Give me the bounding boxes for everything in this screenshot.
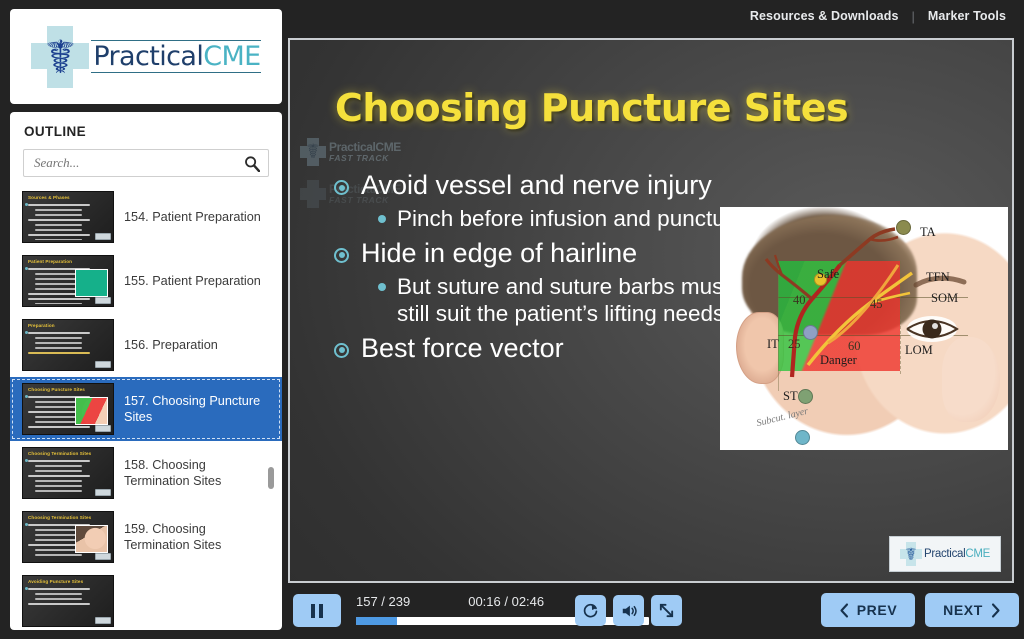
sub-bullet-marker-icon — [378, 283, 386, 291]
outline-item-label: 157. Choosing Puncture Sites — [124, 393, 274, 426]
resources-and-downloads-link[interactable]: Resources & Downloads — [750, 9, 899, 23]
thumbnail-image — [75, 397, 108, 425]
outline-heading: OUTLINE — [10, 112, 282, 139]
figure-label: Danger — [820, 353, 857, 368]
replay-icon — [582, 602, 599, 619]
outline-item-label: 158. Choosing Termination Sites — [124, 457, 274, 490]
presentation-player: Resources & Downloads | Marker Tools ☤ P… — [0, 0, 1024, 639]
outline-item-157[interactable]: Choosing Puncture Sites157. Choosing Pun… — [10, 377, 282, 441]
footer-caduceus-icon: ☤ — [900, 542, 922, 566]
thumbnail-title: Choosing Puncture Sites — [28, 387, 85, 392]
thumbnail-image — [75, 269, 108, 297]
thumbnail-title: Preparation — [28, 323, 55, 328]
thumbnail-badge — [95, 233, 111, 240]
brand-wordmark: PracticalCME — [91, 38, 260, 75]
outline-panel: OUTLINE Sources & Phases154. Patient Pre… — [10, 112, 282, 630]
bullet-marker-icon — [334, 180, 349, 195]
outline-item-thumbnail: Choosing Termination Sites — [22, 447, 114, 499]
footer-logo-part1: Practical — [924, 548, 965, 560]
search-box[interactable] — [23, 149, 269, 177]
slide-bullet-list: Avoid vessel and nerve injuryPinch befor… — [334, 170, 754, 367]
chevron-right-icon — [990, 603, 1001, 618]
thumbnail-image — [75, 525, 108, 553]
outline-item-156[interactable]: Preparation156. Preparation — [10, 313, 282, 377]
player-controls-bar: 157 / 239 00:16 / 02:46 — [288, 590, 1014, 636]
slide-sub-bullet-text: Pinch before infusion and puncture — [397, 205, 745, 232]
thumbnail-badge — [95, 617, 111, 624]
thumbnail-title: Choosing Termination Sites — [28, 451, 91, 456]
progress-bar-fill — [356, 617, 397, 625]
thumbnail-title: Choosing Termination Sites — [28, 515, 91, 520]
thumbnail-badge — [95, 489, 111, 496]
thumbnail-badge — [95, 425, 111, 432]
figure-label: TA — [920, 225, 936, 240]
watermark-tagline: FAST TRACK — [329, 154, 401, 163]
slide-bullet-level2: Pinch before infusion and puncture — [378, 205, 754, 232]
thumbnail-title: Sources & Phases — [28, 195, 70, 200]
volume-button[interactable] — [613, 595, 644, 626]
slide-counter: 157 / 239 — [356, 594, 410, 609]
thumbnail-badge — [95, 361, 111, 368]
outline-item-thumbnail: Choosing Termination Sites — [22, 511, 114, 563]
footer-logo-part2: CME — [965, 548, 990, 560]
outline-item-thumbnail: Avoiding Puncture Sites — [22, 575, 114, 627]
outline-list[interactable]: Sources & Phases154. Patient Preparation… — [10, 185, 282, 630]
figure-angle-number: 60 — [848, 339, 861, 354]
slide-bullet-text: Hide in edge of hairline — [361, 238, 637, 270]
time-counter: 00:16 / 02:46 — [468, 594, 544, 609]
figure-angle-number: 40 — [793, 293, 806, 308]
outline-item-160[interactable]: Avoiding Puncture Sites — [10, 569, 282, 630]
outline-scrollbar-thumb[interactable] — [268, 467, 274, 489]
fullscreen-icon — [658, 602, 675, 619]
figure-label: SOM — [931, 291, 958, 306]
outline-item-thumbnail: Patient Preparation — [22, 255, 114, 307]
figure-label: LOM — [905, 343, 933, 358]
thumbnail-badge — [95, 297, 111, 304]
outline-item-159[interactable]: Choosing Termination Sites159. Choosing … — [10, 505, 282, 569]
figure-angle-number: 45 — [870, 297, 883, 312]
slide-sub-bullet-text: But suture and suture barbs must still s… — [397, 273, 754, 327]
brand-name-part2: CME — [203, 41, 260, 72]
slide-bullet-text: Best force vector — [361, 333, 564, 365]
slide-bullet-level1: Hide in edge of hairline — [334, 238, 754, 270]
replay-button[interactable] — [575, 595, 606, 626]
player-counters: 157 / 239 00:16 / 02:46 — [356, 594, 656, 609]
slide-bullet-level2: But suture and suture barbs must still s… — [378, 273, 754, 327]
slide-title: Choosing Puncture Sites — [335, 86, 848, 130]
watermark-name: PracticalCME — [329, 141, 401, 154]
outline-item-thumbnail: Preparation — [22, 319, 114, 371]
thumbnail-title: Avoiding Puncture Sites — [28, 579, 83, 584]
slide-watermark-logo: ☤ PracticalCME FAST TRACK — [300, 138, 425, 166]
thumbnail-badge — [95, 553, 111, 560]
outline-item-154[interactable]: Sources & Phases154. Patient Preparation — [10, 185, 282, 249]
figure-vessel-overlay — [720, 207, 1008, 450]
pause-icon — [311, 604, 323, 618]
prev-button-label: PREV — [857, 602, 898, 618]
next-button[interactable]: NEXT — [925, 593, 1019, 627]
caduceus-icon: ☤ — [31, 26, 89, 88]
thumbnail-text-lines — [28, 588, 109, 608]
outline-item-thumbnail: Sources & Phases — [22, 191, 114, 243]
outline-item-label: 159. Choosing Termination Sites — [124, 521, 274, 554]
figure-label: ST — [783, 389, 798, 404]
slide-footer-logo: ☤ PracticalCME — [889, 536, 1001, 572]
facial-danger-zone-figure: TATFNSOMLOMSTSafeDangerIT 40452560 Subcu… — [720, 207, 1008, 450]
figure-label: IT — [767, 337, 779, 352]
outline-item-158[interactable]: Choosing Termination Sites158. Choosing … — [10, 441, 282, 505]
slide-bullet-level1: Best force vector — [334, 333, 754, 365]
bullet-marker-icon — [334, 248, 349, 263]
outline-item-label: 156. Preparation — [124, 337, 218, 353]
outline-item-label: 155. Patient Preparation — [124, 273, 261, 289]
figure-node-lower — [795, 430, 810, 445]
slide-bullet-text: Avoid vessel and nerve injury — [361, 170, 712, 202]
brand-logo-card: ☤ PracticalCME — [10, 9, 282, 104]
fullscreen-button[interactable] — [651, 595, 682, 626]
brand-name-part1: Practical — [93, 41, 203, 72]
figure-angle-number: 25 — [788, 337, 801, 352]
outline-item-155[interactable]: Patient Preparation155. Patient Preparat… — [10, 249, 282, 313]
volume-icon — [620, 603, 638, 619]
figure-node-ta — [896, 220, 911, 235]
search-input[interactable] — [24, 150, 268, 176]
thumbnail-text-lines — [28, 332, 109, 357]
figure-label: TFN — [926, 270, 950, 285]
outline-item-label: 154. Patient Preparation — [124, 209, 261, 225]
watermark-caduceus-icon: ☤ — [300, 138, 326, 166]
slide-stage: Choosing Puncture Sites ☤ PracticalCME F… — [288, 38, 1014, 583]
slide-bullet-level1: Avoid vessel and nerve injury — [334, 170, 754, 202]
figure-label: Safe — [817, 267, 839, 282]
watermark-ghost-icon — [300, 180, 326, 208]
next-button-label: NEXT — [943, 602, 983, 618]
marker-tools-link[interactable]: Marker Tools — [928, 9, 1006, 23]
search-icon[interactable] — [244, 155, 260, 172]
prev-button[interactable]: PREV — [821, 593, 915, 627]
figure-node-st — [798, 389, 813, 404]
thumbnail-title: Patient Preparation — [28, 259, 72, 264]
sub-bullet-marker-icon — [378, 215, 386, 223]
pause-button[interactable] — [293, 594, 341, 627]
topbar-divider: | — [912, 9, 915, 24]
figure-node-mid — [803, 325, 818, 340]
bullet-marker-icon — [334, 343, 349, 358]
chevron-left-icon — [839, 603, 850, 618]
outline-item-thumbnail: Choosing Puncture Sites — [22, 383, 114, 435]
